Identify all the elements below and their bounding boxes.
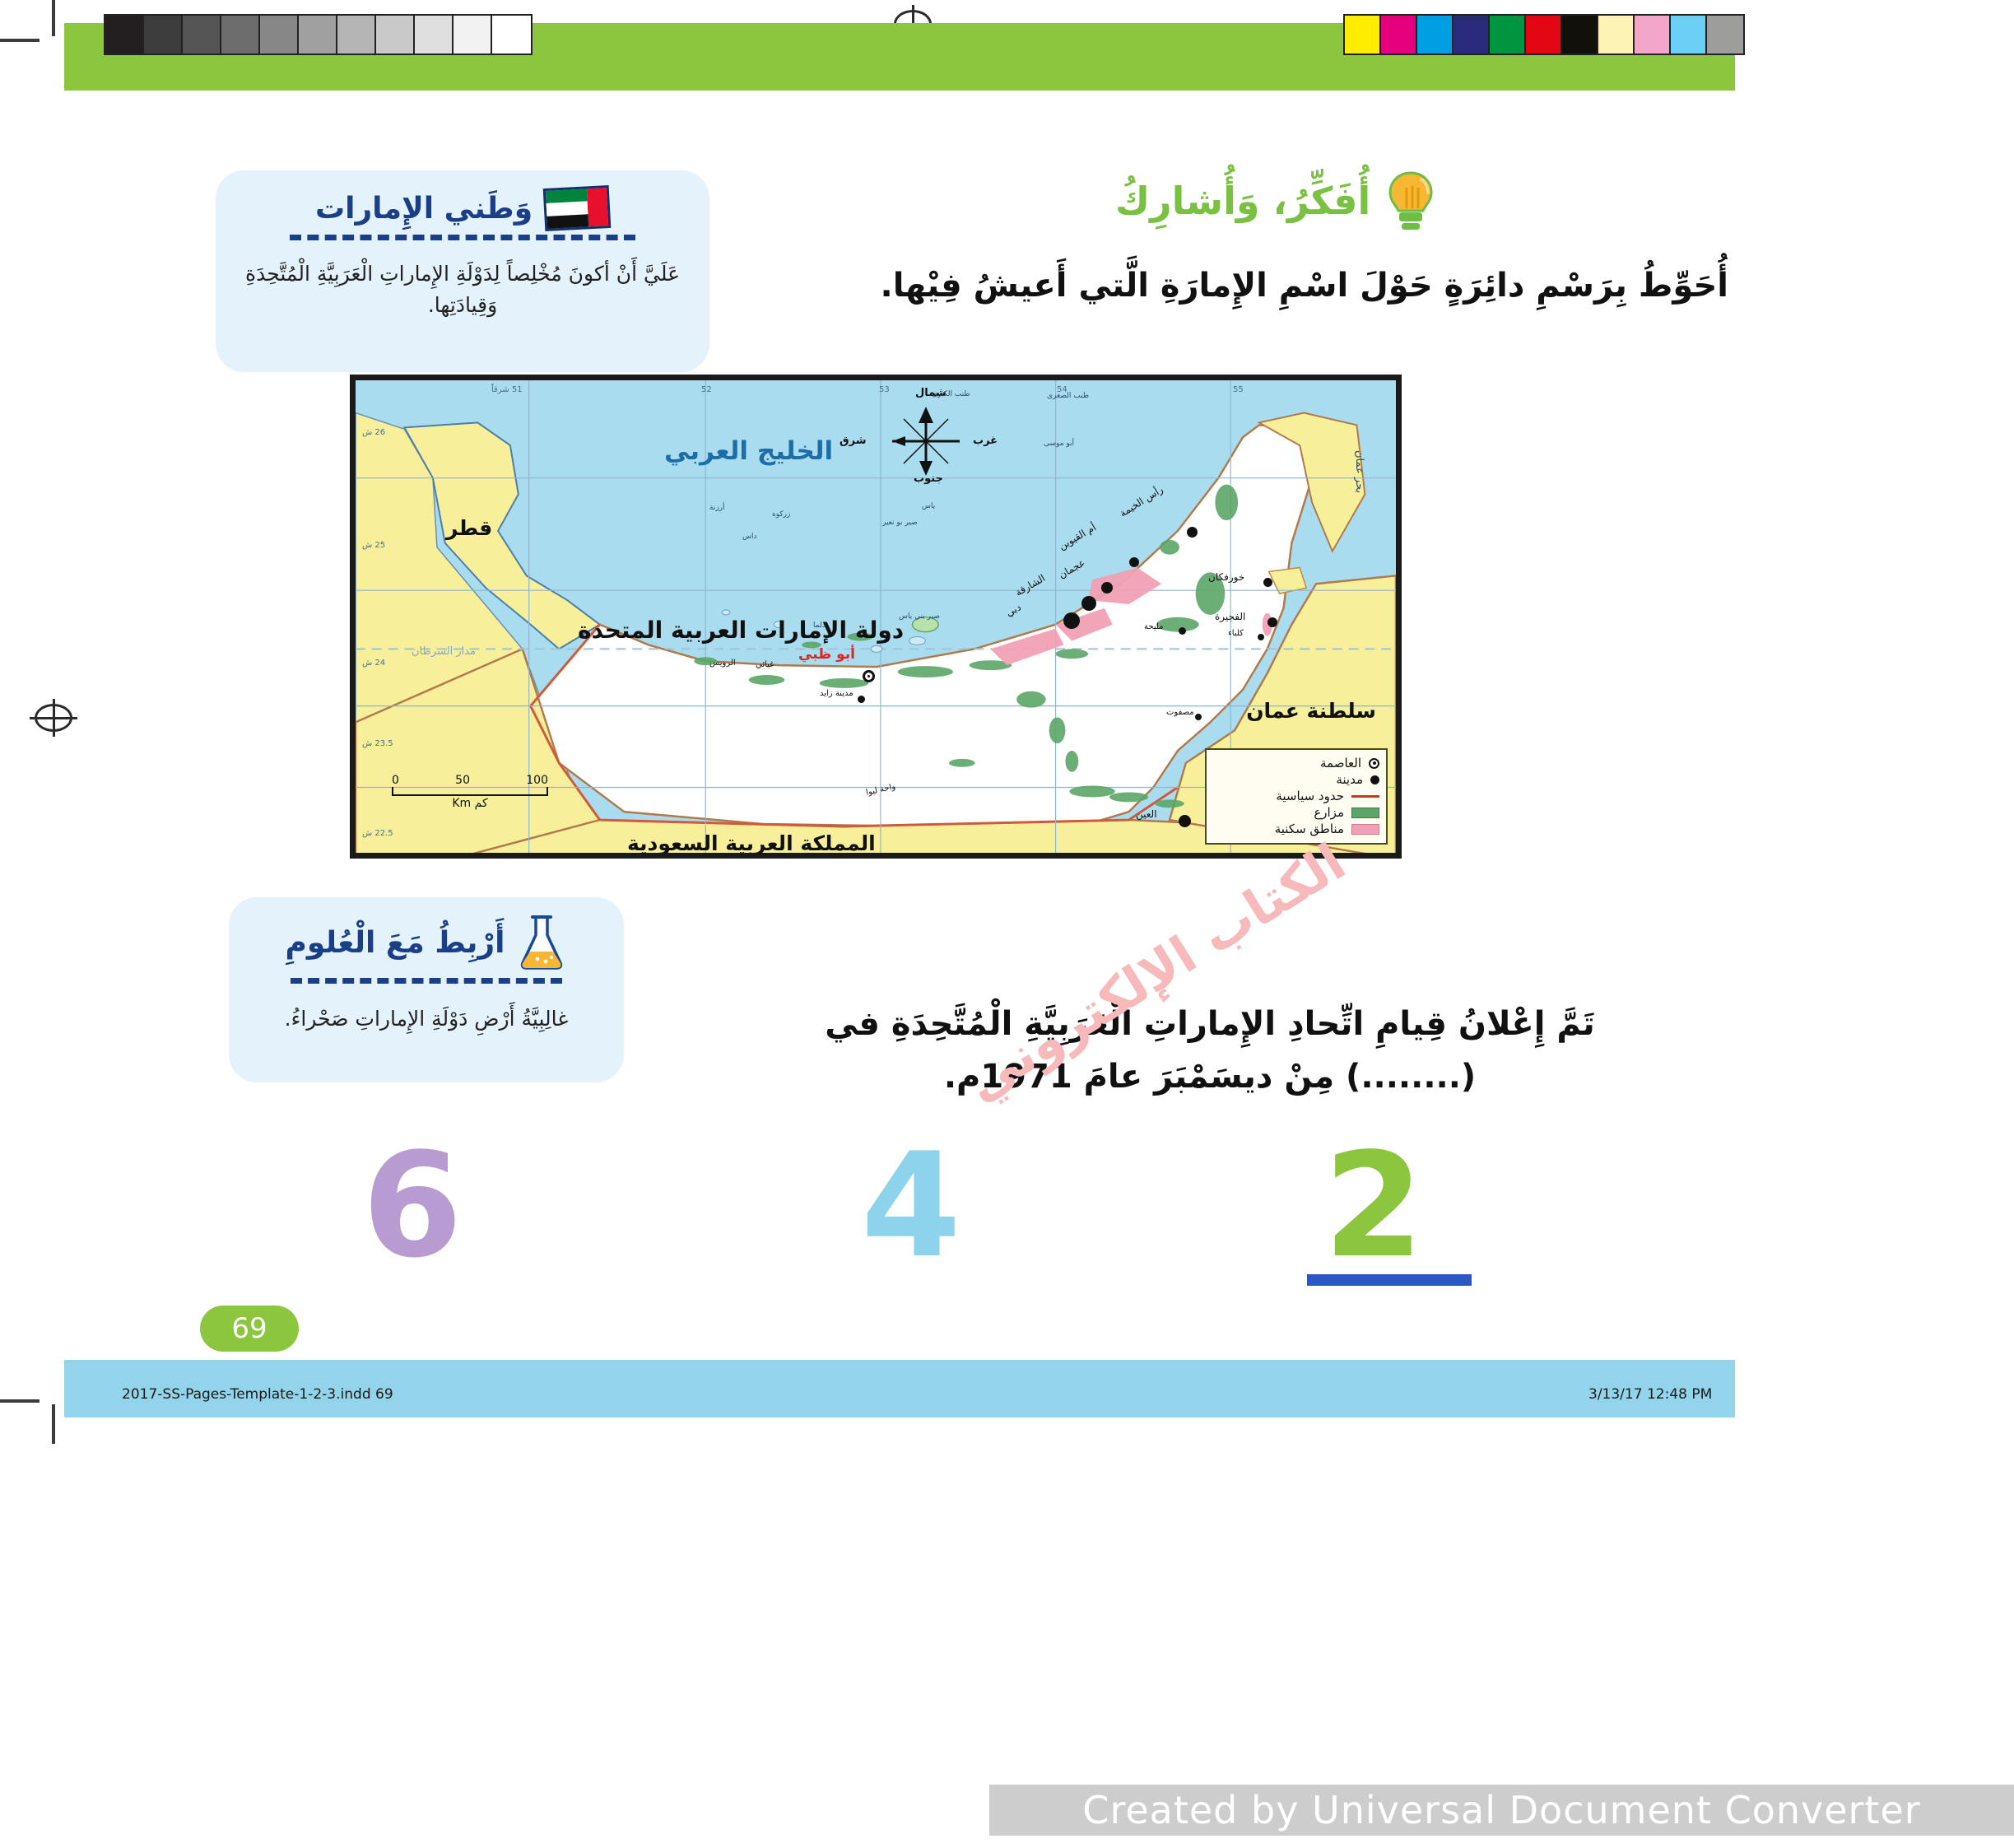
color-swatch-6 xyxy=(1562,16,1598,54)
color-swatch-7 xyxy=(1598,16,1635,54)
map-label-madinat-zayed: مدينة زايد xyxy=(820,689,854,698)
think-and-share-heading: أُفَكِّرُ، وَأُشارِكُ xyxy=(1115,170,1436,232)
map-label-delma: دلما xyxy=(813,621,826,630)
uae-map-figure: 51 شرقاً 52 53 54 55 26 ش 25 ش 24 ش 23.5… xyxy=(350,375,1402,859)
color-swatch-2 xyxy=(1417,16,1454,54)
map-label-yas: ياس xyxy=(922,502,935,510)
map-label-zirku: زركوه xyxy=(772,510,790,519)
science-callout-divider xyxy=(291,978,562,984)
legend-label-border: حدود سياسية xyxy=(1276,789,1344,803)
science-callout-header: أَرْبِطُ مَعَ الْعُلومِ xyxy=(229,912,624,973)
homeland-callout-header: وَطَني الإِمارات xyxy=(216,187,709,230)
map-city-dot-ajman xyxy=(1101,582,1113,594)
compass-rose: شمال جنوب شرق غرب xyxy=(881,398,971,485)
grayscale-swatch-0 xyxy=(105,16,144,54)
map-city-dot-al-ain xyxy=(1179,815,1191,827)
map-grid-lat-26: 26 ش xyxy=(362,428,385,437)
crop-mark-left-lower-horizontal xyxy=(0,1399,40,1403)
map-city-dot-malihah xyxy=(1179,627,1186,635)
map-label-kalba: كلباء xyxy=(1228,629,1244,638)
urban-swatch-symbol-icon xyxy=(1351,824,1379,835)
map-grid-lat-24: 24 ش xyxy=(362,659,385,668)
map-label-sir-bu-nair: صير بو نعير xyxy=(882,519,918,527)
map-label-al-ain: العين xyxy=(1136,808,1157,820)
grayscale-swatch-8 xyxy=(415,16,453,54)
map-label-ghayathi: غيائي xyxy=(756,660,774,669)
map-grid-lon-55: 55 xyxy=(1233,385,1244,394)
scale-bar-line xyxy=(392,787,548,796)
map-label-fujairah: الفجيرة xyxy=(1215,611,1245,622)
question-line-2: (........) مِنْ ديسَمْبَرَ عامَ 1971م. xyxy=(675,1050,1745,1103)
map-label-sea-of-oman: بحر عمان xyxy=(1353,450,1365,493)
map-city-dot-ras-al-khaimah xyxy=(1187,527,1198,538)
science-callout-box: أَرْبِطُ مَعَ الْعُلومِ غالِبِيَّةُ أَرْ… xyxy=(229,897,624,1082)
legend-label-capital: العاصمة xyxy=(1320,756,1361,770)
color-calibration-strip xyxy=(1343,14,1745,55)
homeland-callout-box: وَطَني الإِمارات عَلَيَّ أَنْ أكونَ مُخْ… xyxy=(216,170,709,372)
map-grid-lon-53: 53 xyxy=(879,385,890,394)
color-swatch-0 xyxy=(1345,16,1381,54)
map-capital-marker-abu-dhabi xyxy=(863,670,875,682)
crop-mark-left-upper-horizontal xyxy=(0,39,40,42)
map-label-malihah: مليحة xyxy=(1144,622,1164,631)
border-line-symbol-icon xyxy=(1351,795,1379,798)
textbook-page: أُفَكِّرُ، وَأُشارِكُ أُحَوِّطُ بِرَسْمِ… xyxy=(0,0,2014,1848)
color-swatch-4 xyxy=(1490,16,1526,54)
map-grid-lat-25: 25 ش xyxy=(362,541,385,550)
map-grid-lat-23-5: 23.5 ش xyxy=(362,739,393,748)
homeland-callout-divider xyxy=(290,235,635,240)
map-grid-lat-22-5: 22.5 ش xyxy=(362,829,393,838)
map-label-oman: سلطنة عمان xyxy=(1277,700,1376,724)
grayscale-swatch-7 xyxy=(376,16,415,54)
map-label-abu-musa: أبو موسى xyxy=(1044,440,1074,448)
map-label-abu-dhabi: أبو ظبي xyxy=(798,646,855,663)
city-dot-symbol-icon xyxy=(1370,775,1379,784)
legend-label-city: مدينة xyxy=(1336,772,1363,787)
activity-instruction: أُحَوِّطُ بِرَسْمِ دائِرَةٍ حَوْلَ اسْمِ… xyxy=(626,262,1728,310)
map-label-arabian-gulf: الخليج العربي xyxy=(664,436,833,466)
map-city-dot-fujairah xyxy=(1267,617,1277,627)
capital-symbol-icon xyxy=(1369,758,1379,769)
grayscale-swatch-3 xyxy=(221,16,260,54)
map-label-khorfakkan: خورفكان xyxy=(1208,571,1244,583)
map-city-dot-umm-al-quwain xyxy=(1129,557,1139,567)
map-city-dot-madinat-zayed xyxy=(858,696,865,703)
color-swatch-9 xyxy=(1671,16,1707,54)
grayscale-swatch-4 xyxy=(260,16,299,54)
color-swatch-8 xyxy=(1635,16,1671,54)
map-label-arzanah: أرزنة xyxy=(709,504,725,512)
uae-flag-icon xyxy=(544,187,610,230)
grayscale-swatch-5 xyxy=(299,16,337,54)
map-label-sir-bani-yas: صير بني ياس xyxy=(899,612,940,621)
legend-item-city: مدينة xyxy=(1213,771,1379,788)
question-line-1: تَمَّ إِعْلانُ قِيامِ اتِّحادِ الإِمارات… xyxy=(675,998,1745,1050)
grayscale-swatch-10 xyxy=(492,16,531,54)
legend-item-capital: العاصمة xyxy=(1213,755,1379,771)
scale-start-label: 0 xyxy=(392,774,399,787)
legend-item-border: حدود سياسية xyxy=(1213,788,1379,804)
page-number-badge: 69 xyxy=(200,1306,299,1352)
science-callout-body: غالِبِيَّةُ أَرْضِ دَوْلَةِ الإِماراتِ ص… xyxy=(229,1003,624,1035)
flask-icon xyxy=(516,912,567,973)
science-callout-title: أَرْبِطُ مَعَ الْعُلومِ xyxy=(286,926,505,960)
color-swatch-10 xyxy=(1707,16,1743,54)
map-label-masfut: مصفوت xyxy=(1166,708,1194,717)
grayscale-calibration-strip xyxy=(104,14,533,55)
map-label-greater-tunb: طنب الكبرى xyxy=(932,390,970,398)
map-label-saudi-arabia: المملكة العربية السعودية xyxy=(627,831,876,855)
question-block: تَمَّ إِعْلانُ قِيامِ اتِّحادِ الإِمارات… xyxy=(675,998,1745,1103)
grayscale-swatch-2 xyxy=(183,16,221,54)
color-swatch-5 xyxy=(1526,16,1562,54)
map-city-dot-masfut xyxy=(1195,714,1202,720)
compass-south-label: جنوب xyxy=(914,472,943,485)
map-label-lesser-tunb: طنب الصغرى xyxy=(1047,392,1089,400)
legend-item-farms: مزارع xyxy=(1213,804,1379,821)
scale-mid-label: 50 xyxy=(455,774,470,787)
map-label-das: داس xyxy=(742,533,757,541)
farm-swatch-symbol-icon xyxy=(1351,808,1379,818)
scale-end-label: 100 xyxy=(526,774,548,787)
scale-unit-arabic: كم xyxy=(475,797,488,810)
answer-option-2[interactable]: 2 xyxy=(1323,1134,1424,1278)
map-city-dot-khorfakkan xyxy=(1263,578,1272,587)
legend-item-urban: مناطق سكنية xyxy=(1213,821,1379,837)
map-label-tropic-of-cancer: مدار السرطان xyxy=(412,645,476,658)
map-label-ruwais: الرويس xyxy=(709,659,736,668)
homeland-callout-title: وَطَني الإِمارات xyxy=(315,192,533,226)
map-label-uae: دولة الإمارات العربية المتحدة xyxy=(578,617,904,644)
color-swatch-1 xyxy=(1381,16,1417,54)
think-and-share-label: أُفَكِّرُ، وَأُشارِكُ xyxy=(1115,179,1370,223)
map-city-dot-dubai xyxy=(1063,612,1080,629)
color-swatch-3 xyxy=(1454,16,1490,54)
selected-answer-underline xyxy=(1307,1274,1472,1286)
grayscale-swatch-6 xyxy=(337,16,376,54)
legend-label-farms: مزارع xyxy=(1314,805,1344,820)
map-grid-lon-52: 52 xyxy=(701,385,712,394)
compass-east-label: شرق xyxy=(840,435,867,447)
answer-option-4[interactable]: 4 xyxy=(861,1134,961,1278)
answer-option-6[interactable]: 6 xyxy=(362,1134,463,1278)
footer-file-name: 2017-SS-Pages-Template-1-2-3.indd 69 xyxy=(122,1386,393,1403)
compass-west-label: غرب xyxy=(973,435,998,447)
registration-mark-left-middle xyxy=(35,704,72,732)
map-legend: العاصمة مدينة حدود سياسية مزارع مناطق سك… xyxy=(1205,748,1388,845)
legend-label-urban: مناطق سكنية xyxy=(1275,822,1344,836)
map-city-dot-kalba xyxy=(1258,634,1264,640)
map-label-qatar: قطر xyxy=(446,516,492,540)
homeland-callout-body: عَلَيَّ أَنْ أكونَ مُخْلِصاً لِدَوْلَةِ … xyxy=(216,258,709,320)
crop-mark-bottom-left-vertical xyxy=(52,1404,55,1444)
crop-mark-top-left-vertical xyxy=(52,0,55,36)
grayscale-swatch-9 xyxy=(453,16,492,54)
map-city-dot-sharjah xyxy=(1081,596,1096,611)
map-scale-bar: 0 50 100 Km كم xyxy=(392,774,548,810)
grayscale-swatch-1 xyxy=(144,16,183,54)
footer-timestamp: 3/13/17 12:48 PM xyxy=(1588,1386,1712,1403)
scale-unit-latin: Km xyxy=(452,797,471,810)
scale-unit-label: Km كم xyxy=(392,797,548,810)
bottom-watermark: Created by Universal Document Converter xyxy=(989,1785,2014,1836)
lightbulb-icon xyxy=(1385,170,1436,232)
map-grid-lon-51: 51 شرقاً xyxy=(491,385,523,394)
